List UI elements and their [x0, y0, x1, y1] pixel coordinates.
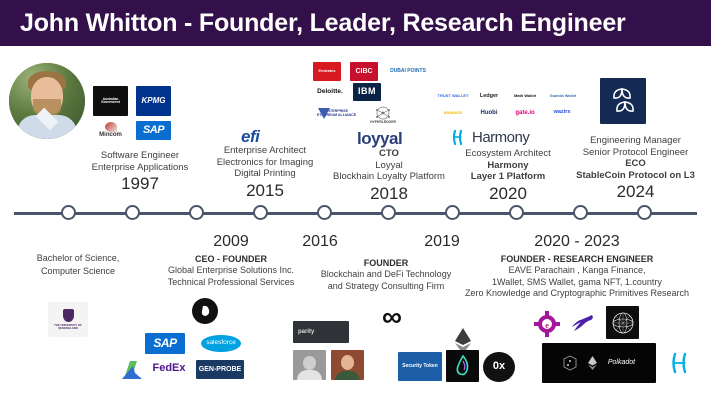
- gear-mark: e: [534, 311, 560, 337]
- timeline-node-9[interactable]: [573, 205, 588, 220]
- parity-logo: parity: [293, 321, 349, 343]
- svg-text:e: e: [545, 321, 549, 330]
- milestone-consulting: FOUNDER Blockchain and DeFi Technology a…: [303, 256, 469, 292]
- timeline-node-6[interactable]: [381, 205, 396, 220]
- sap-logo-lower: SAP: [145, 333, 185, 354]
- hyperledger-mark: [373, 106, 393, 121]
- loyyal-logo: loyyal: [357, 129, 402, 149]
- timeline-node-8[interactable]: [509, 205, 524, 220]
- milestone-1997: Software Engineer Enterprise Application…: [70, 150, 210, 195]
- polkadot-banner: Polkadot: [542, 343, 656, 383]
- salesforce-logo: salesforce: [197, 331, 245, 356]
- timeline-node-3[interactable]: [189, 205, 204, 220]
- azure-logo: [118, 358, 148, 384]
- enterprise-ethereum-alliance-logo: ENTERPRISE ETHEREUM ALLIANCE: [316, 104, 360, 124]
- emirates-logo: Emirates: [313, 62, 341, 81]
- harmony-mark-lower: [669, 351, 693, 375]
- ethereum-mark-small: [587, 355, 598, 371]
- australian-government-logo: Australian Government: [93, 86, 128, 116]
- timeline-node-1[interactable]: [61, 205, 76, 220]
- gen-probe-logo: GEN-PROBE: [196, 360, 244, 379]
- huobi-logo: Huobi: [474, 107, 504, 119]
- milestone-2024: Engineering Manager Senior Protocol Engi…: [563, 135, 708, 203]
- milestone-2020: Ecosystem Architect Harmony Layer 1 Plat…: [437, 148, 579, 204]
- math-wallet-logo: Math Wallet: [509, 90, 541, 103]
- eco-mark: [607, 85, 639, 117]
- timeline-node-10[interactable]: [637, 205, 652, 220]
- sap-logo: SAP: [136, 121, 171, 140]
- page-title: John Whitton - Founder, Leader, Research…: [20, 9, 626, 38]
- dubai-points-logo: DUBAI POINTS: [388, 62, 428, 81]
- sphere-network-logo: [606, 306, 639, 339]
- portrait-one: [293, 350, 326, 380]
- hyperledger-logo: HYPERLEDGER: [366, 104, 400, 126]
- globe-mark: [195, 301, 215, 321]
- trust-wallet-logo: TRUST WALLET: [437, 90, 469, 103]
- timeline-node-2[interactable]: [125, 205, 140, 220]
- eco-logo: [600, 78, 646, 124]
- timeline-node-4[interactable]: [253, 205, 268, 220]
- kangaroo-icon: [568, 312, 598, 336]
- guarda-wallet-logo: Guarda Wallet: [546, 90, 580, 103]
- 0x-logo: 0x: [483, 352, 515, 382]
- deloitte-logo: Deloitte.: [313, 85, 347, 99]
- milestone-degree: Bachelor of Science, Computer Science: [8, 252, 148, 278]
- ibm-logo: IBM: [353, 83, 381, 101]
- timeline-node-5[interactable]: [317, 205, 332, 220]
- harmony-logo-lower: [666, 348, 696, 378]
- mincom-logo: Mincom: [93, 119, 128, 141]
- eave-gear-icon: e: [533, 310, 561, 338]
- portrait-two: [331, 350, 364, 380]
- harmony-logo: Harmony: [452, 129, 529, 146]
- ledger-logo: Ledger: [474, 90, 504, 103]
- milestone-2015: Enterprise Architect Electronics for Ima…: [195, 145, 335, 201]
- flame-mark: [452, 354, 474, 378]
- timeline-node-7[interactable]: [445, 205, 460, 220]
- milestone-research: 2020 - 2023 FOUNDER - RESEARCH ENGINEER …: [452, 232, 702, 299]
- infinity-icon: ∞: [382, 303, 402, 331]
- kangaroo-mark: [568, 313, 598, 335]
- efi-logo: efi: [241, 127, 259, 147]
- flame-logo: [446, 350, 479, 382]
- globe-australia-icon: [192, 298, 218, 324]
- kpmg-logo: KPMG: [136, 86, 171, 116]
- azure-mark: [121, 360, 145, 382]
- gateio-logo: gate.io: [509, 107, 541, 119]
- milestone-year-2016: 2016: [290, 232, 350, 252]
- dice-mark: [563, 355, 577, 371]
- cibc-logo: CIBC: [350, 62, 378, 81]
- wazirx-logo: wazirx: [546, 107, 578, 119]
- sphere-mark: [610, 310, 636, 336]
- fedex-logo: FedEx: [148, 360, 190, 378]
- security-token-logo: Security Token: [398, 352, 442, 381]
- timeline-axis: [14, 212, 697, 215]
- harmony-mark: [452, 130, 468, 145]
- university-of-queensland-logo: THE UNIVERSITY OF QUEENSLAND: [48, 302, 88, 337]
- binance-logo: BINANCE: [437, 107, 469, 119]
- avatar: [9, 63, 85, 139]
